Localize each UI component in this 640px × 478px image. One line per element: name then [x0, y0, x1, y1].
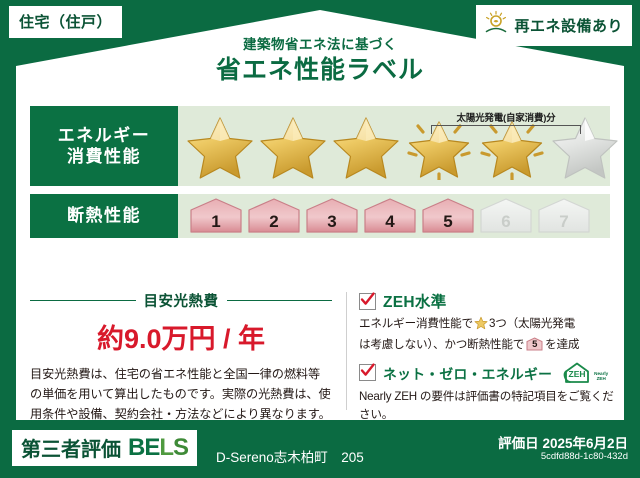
- bels-letter-l: L: [159, 434, 173, 461]
- bels-jp-label: 第三者評価: [21, 433, 121, 462]
- insulation-level-scale: 1 2 3: [188, 197, 592, 235]
- house-icon: 4: [362, 197, 418, 235]
- bels-logo: 第三者評価 BELS: [12, 430, 197, 466]
- zeh-standard-description: エネルギー消費性能で3つ（太陽光発電は考慮しない）、かつ断熱性能で5を達成: [359, 315, 614, 354]
- house-icon-inline: 5: [526, 337, 543, 351]
- utility-cost-section: 目安光熱費 約9.0万円 / 年 目安光熱費は、住宅の省エネ性能と全国一律の燃料…: [16, 286, 346, 420]
- bels-letter-e: E: [144, 434, 159, 461]
- zeh-section: ZEH水準 エネルギー消費性能で3つ（太陽光発電は考慮しない）、かつ断熱性能で5…: [347, 286, 624, 420]
- insulation-level-value: 1: [188, 212, 244, 232]
- energy-performance-stars-area: 太陽光発電(自家消費)分: [178, 106, 610, 186]
- label-title: 省エネ性能ラベル: [0, 55, 640, 86]
- zeh-desc-part2: は考慮しない）、かつ断熱性能で: [359, 338, 524, 351]
- zeh-badge-sub-line2: ZEH: [597, 376, 606, 381]
- insulation-level-value: 7: [536, 212, 592, 232]
- insulation-level-value: 6: [478, 212, 534, 232]
- house-icon: 1: [188, 197, 244, 235]
- energy-performance-row: エネルギー 消費性能 太陽光発電(自家消費)分: [30, 106, 610, 186]
- house-icon-inline-value: 5: [526, 337, 543, 351]
- zeh-desc-part1: エネルギー消費性能で: [359, 317, 473, 330]
- house-icon-empty: 7: [536, 197, 592, 235]
- house-icon: 5: [420, 197, 476, 235]
- check-icon: [359, 364, 376, 381]
- zeh-net-zero-block: ネット・ゼロ・エネルギー ZEH Nearly ZEH: [359, 361, 614, 424]
- star-icon-solar: [403, 112, 475, 180]
- label-footer: 第三者評価 BELS D-Sereno志木柏町 205 評価日 2025年6月2…: [0, 420, 640, 478]
- insulation-level-value: 4: [362, 212, 418, 232]
- zeh-desc-star-count: 3つ（太陽光発電: [489, 317, 575, 330]
- evaluation-date-value: 2025年6月2日: [542, 436, 628, 451]
- utility-cost-heading-label: 目安光熱費: [144, 290, 219, 311]
- star-rating: [184, 112, 621, 180]
- zeh-standard-title: ZEH水準: [383, 290, 447, 312]
- insulation-performance-label: 断熱性能: [30, 194, 178, 238]
- renewable-energy-badge: 再エネ設備あり: [476, 5, 632, 46]
- house-icon: 2: [246, 197, 302, 235]
- star-icon: [184, 112, 256, 180]
- property-name: D-Sereno志木柏町 205: [216, 446, 364, 466]
- insulation-level-value: 2: [246, 212, 302, 232]
- check-icon: [359, 293, 376, 310]
- zeh-standard-heading: ZEH水準: [359, 290, 614, 312]
- insulation-performance-levels-area: 1 2 3: [178, 194, 610, 238]
- energy-performance-label: 住宅（住戸） 再エネ設備あり 建築物省エネ法に基づく 省エネ性能ラベル: [0, 0, 640, 478]
- energy-performance-label-line2: 消費性能: [67, 146, 141, 167]
- bels-letter-b: B: [128, 434, 144, 461]
- utility-cost-heading: 目安光熱費: [30, 290, 332, 311]
- zeh-net-zero-description: Nearly ZEH の要件は評価書の特記項目をご覧ください。: [359, 388, 614, 424]
- insulation-level-value: 3: [304, 212, 360, 232]
- star-icon: [257, 112, 329, 180]
- energy-performance-label-line1: エネルギー: [58, 125, 151, 146]
- evaluation-id: 5cdfd88d-1c80-432d: [541, 451, 628, 462]
- insulation-level-value: 5: [420, 212, 476, 232]
- svg-text:ZEH: ZEH: [569, 369, 586, 379]
- bels-letter-s: S: [173, 434, 188, 461]
- house-type-badge: 住宅（住戸）: [8, 5, 123, 39]
- insulation-performance-row: 断熱性能 1: [30, 194, 610, 238]
- renewable-energy-badge-label: 再エネ設備あり: [514, 15, 623, 36]
- sun-solar-icon: [483, 10, 509, 41]
- energy-performance-label: エネルギー 消費性能: [30, 106, 178, 186]
- star-icon-solar: [476, 112, 548, 180]
- heading-rule-left: [30, 300, 136, 301]
- zeh-net-zero-title: ネット・ゼロ・エネルギー: [383, 363, 552, 383]
- house-type-badge-label: 住宅（住戸）: [19, 14, 112, 31]
- utility-cost-value: 約9.0万円 / 年: [30, 317, 332, 356]
- heading-rule-right: [227, 300, 333, 301]
- house-icon-empty: 6: [478, 197, 534, 235]
- zeh-standard-block: ZEH水準 エネルギー消費性能で3つ（太陽光発電は考慮しない）、かつ断熱性能で5…: [359, 290, 614, 354]
- house-icon: 3: [304, 197, 360, 235]
- star-icon-inline: [474, 320, 488, 333]
- lower-section: 目安光熱費 約9.0万円 / 年 目安光熱費は、住宅の省エネ性能と全国一律の燃料…: [16, 286, 624, 420]
- insulation-performance-label-text: 断熱性能: [67, 205, 141, 226]
- zeh-desc-part3: を達成: [545, 338, 579, 351]
- utility-cost-note: 目安光熱費は、住宅の省エネ性能と全国一律の燃料等の単価を用いて算出したものです。…: [30, 365, 332, 424]
- zeh-net-zero-heading: ネット・ゼロ・エネルギー ZEH Nearly ZEH: [359, 361, 614, 385]
- evaluation-date: 評価日 2025年6月2日: [498, 432, 628, 452]
- evaluation-date-label: 評価日: [498, 436, 539, 451]
- label-body-card: エネルギー 消費性能 太陽光発電(自家消費)分: [16, 98, 624, 420]
- star-icon-empty: [549, 112, 621, 180]
- star-icon: [330, 112, 402, 180]
- zeh-house-icon: ZEH Nearly ZEH: [562, 361, 608, 385]
- bels-en-label: BELS: [128, 434, 188, 462]
- zeh-badge-sublabel: Nearly ZEH: [594, 372, 608, 385]
